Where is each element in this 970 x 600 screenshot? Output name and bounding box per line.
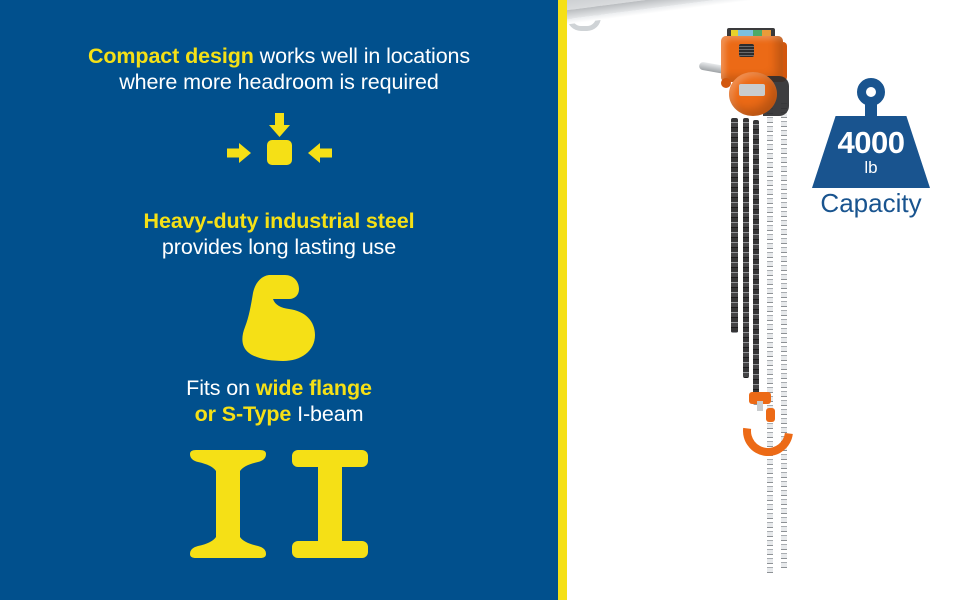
hoist-vent-grille xyxy=(739,44,754,57)
capacity-unit: lb xyxy=(864,159,877,177)
hand-chain-strand-2 xyxy=(781,100,787,570)
feature-1-highlight: Compact design xyxy=(88,44,254,68)
feature-3-line2-post: I-beam xyxy=(291,402,363,426)
capacity-label: Capacity xyxy=(812,188,930,218)
hook-tip xyxy=(766,408,775,422)
compress-arrows-icon xyxy=(0,112,558,184)
i-beam-icon xyxy=(0,448,558,560)
weight-body: 4000 lb xyxy=(812,116,930,188)
hoist-lug xyxy=(721,78,731,88)
feature-1-line2: where more headroom is required xyxy=(0,69,558,95)
load-chain-strand-3 xyxy=(753,120,759,405)
feature-3-line1-pre: Fits on xyxy=(186,376,256,400)
hand-chain-strand-1 xyxy=(767,96,773,576)
s-type-beam-shape xyxy=(190,450,266,558)
feature-3-highlight-2: or S-Type xyxy=(195,402,292,426)
features-panel: Compact design works well in locations w… xyxy=(0,0,558,600)
capacity-value: 4000 xyxy=(838,128,905,158)
feature-2-line2: provides long lasting use xyxy=(0,234,558,260)
load-chain-strand-1 xyxy=(731,118,738,333)
hook-body xyxy=(733,396,803,466)
feature-3-highlight-1: wide flange xyxy=(256,376,372,400)
yellow-divider-stripe xyxy=(558,0,567,600)
feature-1-line1-rest: works well in locations xyxy=(254,44,470,68)
feature-compact-design-text: Compact design works well in locations w… xyxy=(0,43,558,95)
feature-heavy-duty-text: Heavy-duty industrial steel provides lon… xyxy=(0,208,558,260)
capacity-badge: 4000 lb Capacity xyxy=(812,78,930,220)
load-chain-strand-2 xyxy=(743,118,749,378)
orange-lifting-hook xyxy=(740,392,780,448)
wide-flange-beam-shape xyxy=(292,450,368,558)
flexed-bicep-icon xyxy=(0,272,558,364)
product-feature-banner: Compact design works well in locations w… xyxy=(0,0,970,600)
feature-beam-fit-text: Fits on wide flange or S-Type I-beam xyxy=(0,375,558,427)
hoist-nameplate xyxy=(739,84,765,96)
orange-chain-hoist xyxy=(713,28,791,124)
feature-2-highlight: Heavy-duty industrial steel xyxy=(0,208,558,234)
